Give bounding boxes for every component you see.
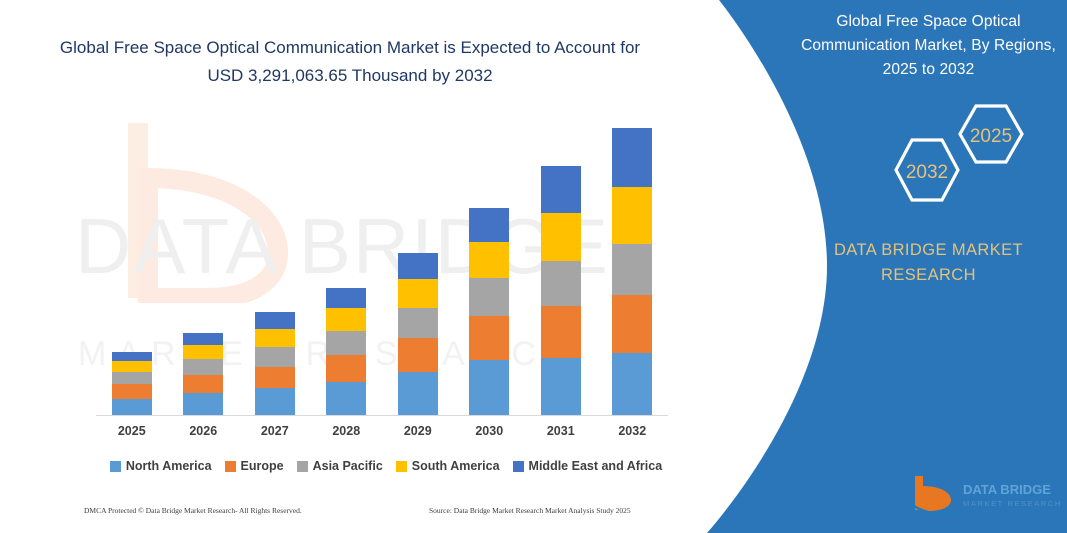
dbmr-logo-line-1: DATA BRIDGE — [963, 482, 1051, 497]
segment-2027-asia-pacific — [255, 347, 295, 367]
legend-label: Asia Pacific — [313, 459, 383, 473]
legend-item-europe[interactable]: Europe — [225, 459, 284, 473]
segment-2032-north-america — [612, 353, 652, 416]
segment-2031-middle-east-and-africa — [541, 166, 581, 212]
legend-item-asia-pacific[interactable]: Asia Pacific — [297, 459, 383, 473]
segment-2032-asia-pacific — [612, 244, 652, 294]
hexagons-svg: 2025 2032 — [790, 100, 1067, 212]
segment-2026-north-america — [183, 393, 223, 416]
page-title: Global Free Space Optical Communication … — [40, 34, 660, 90]
brand-line-1: DATA BRIDGE MARKET — [790, 238, 1067, 263]
footer-copyright: DMCA Protected © Data Bridge Market Rese… — [84, 506, 302, 515]
legend-swatch-icon — [110, 461, 121, 472]
segment-2029-middle-east-and-africa — [398, 253, 438, 280]
segment-2025-south-america — [112, 361, 152, 372]
segment-2027-south-america — [255, 329, 295, 347]
segment-2026-south-america — [183, 345, 223, 359]
bar-2027 — [255, 312, 295, 416]
segment-2031-south-america — [541, 213, 581, 261]
segment-2028-south-america — [326, 308, 366, 331]
legend-item-north-america[interactable]: North America — [110, 459, 212, 473]
segment-2027-middle-east-and-africa — [255, 312, 295, 328]
segment-2029-south-america — [398, 279, 438, 308]
bar-2028 — [326, 288, 366, 416]
right-panel: Global Free Space Optical Communication … — [790, 0, 1067, 533]
segment-2030-middle-east-and-africa — [469, 208, 509, 242]
footer: DMCA Protected © Data Bridge Market Rese… — [84, 506, 684, 520]
legend-swatch-icon — [513, 461, 524, 472]
segment-2028-north-america — [326, 382, 366, 416]
segment-2032-europe — [612, 295, 652, 354]
brand-name: DATA BRIDGE MARKET RESEARCH — [790, 238, 1067, 288]
legend-swatch-icon — [396, 461, 407, 472]
segment-2029-north-america — [398, 372, 438, 416]
dbmr-logo-line-2: MARKET RESEARCH — [963, 499, 1062, 508]
segment-2031-asia-pacific — [541, 261, 581, 306]
legend-label: Middle East and Africa — [529, 459, 663, 473]
segment-2026-asia-pacific — [183, 359, 223, 374]
segment-2029-asia-pacific — [398, 308, 438, 338]
legend-label: South America — [412, 459, 500, 473]
dbmr-logo: DATA BRIDGE MARKET RESEARCH — [905, 470, 1065, 518]
bar-2032 — [612, 128, 652, 416]
legend-swatch-icon — [297, 461, 308, 472]
segment-2028-asia-pacific — [326, 331, 366, 356]
segment-2025-north-america — [112, 399, 152, 416]
x-label-2031: 2031 — [525, 424, 597, 438]
segment-2026-europe — [183, 375, 223, 393]
segment-2031-north-america — [541, 358, 581, 416]
infographic-canvas: DATA BRIDGE MARKET RESEARCH Global Free … — [0, 0, 1067, 533]
segment-2032-middle-east-and-africa — [612, 128, 652, 187]
legend-label: Europe — [241, 459, 284, 473]
footer-source: Source: Data Bridge Market Research Mark… — [429, 506, 631, 515]
x-label-2029: 2029 — [382, 424, 454, 438]
x-label-2027: 2027 — [239, 424, 311, 438]
brand-line-2: RESEARCH — [790, 263, 1067, 288]
segment-2030-asia-pacific — [469, 278, 509, 316]
segment-2025-middle-east-and-africa — [112, 352, 152, 360]
segment-2028-europe — [326, 355, 366, 382]
segment-2031-europe — [541, 306, 581, 358]
legend-item-south-america[interactable]: South America — [396, 459, 500, 473]
segment-2030-south-america — [469, 242, 509, 278]
bar-2029 — [398, 253, 438, 416]
bar-2025 — [112, 352, 152, 416]
chart-legend: North AmericaEuropeAsia PacificSouth Ame… — [96, 455, 676, 477]
x-axis-line — [96, 415, 668, 416]
segment-2028-middle-east-and-africa — [326, 288, 366, 309]
segment-2027-north-america — [255, 388, 295, 416]
x-label-2026: 2026 — [167, 424, 239, 438]
legend-item-middle-east-and-africa[interactable]: Middle East and Africa — [513, 459, 663, 473]
x-label-2032: 2032 — [596, 424, 668, 438]
bar-2026 — [183, 333, 223, 416]
x-label-2028: 2028 — [310, 424, 382, 438]
segment-2027-europe — [255, 367, 295, 389]
segment-2025-asia-pacific — [112, 372, 152, 384]
hexagon-group: 2025 2032 — [790, 100, 1067, 212]
x-label-2025: 2025 — [96, 424, 168, 438]
hexagon-2025-label: 2025 — [970, 126, 1012, 147]
legend-swatch-icon — [225, 461, 236, 472]
segment-2032-south-america — [612, 187, 652, 245]
stacked-bar-chart — [96, 118, 668, 416]
segment-2030-north-america — [469, 360, 509, 415]
segment-2026-middle-east-and-africa — [183, 333, 223, 345]
segment-2025-europe — [112, 384, 152, 398]
legend-label: North America — [126, 459, 212, 473]
x-axis-tick-labels: 20252026202720282029203020312032 — [96, 424, 668, 446]
x-label-2030: 2030 — [453, 424, 525, 438]
segment-2030-europe — [469, 316, 509, 360]
segment-2029-europe — [398, 338, 438, 372]
hexagon-2032-label: 2032 — [906, 162, 948, 183]
bar-2030 — [469, 208, 509, 416]
panel-title: Global Free Space Optical Communication … — [790, 10, 1067, 82]
bar-2031 — [541, 166, 581, 416]
